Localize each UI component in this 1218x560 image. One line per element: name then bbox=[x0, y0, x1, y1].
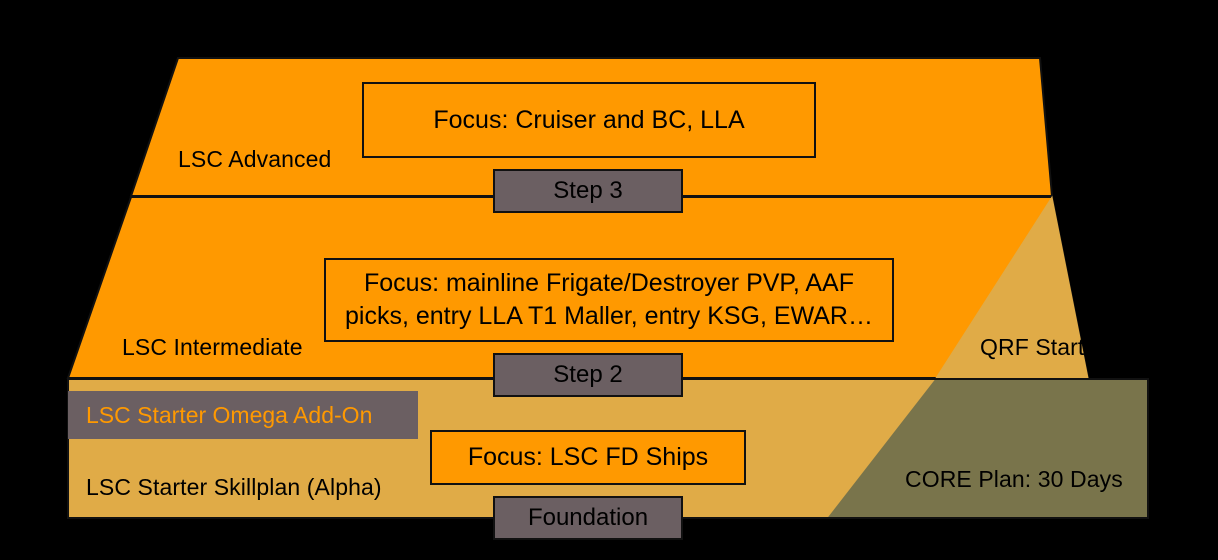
focus-box-intermediate-line1: Focus: mainline Frigate/Destroyer PVP, A… bbox=[364, 267, 854, 300]
tier-label-core-plan: CORE Plan: 30 Days bbox=[905, 466, 1123, 493]
step-box-advanced: Step 3 bbox=[493, 169, 683, 213]
pyramid-diagram: LSC Advanced LSC Intermediate QRF Starte… bbox=[0, 0, 1218, 560]
tier-label-advanced: LSC Advanced bbox=[178, 146, 331, 173]
focus-box-intermediate: Focus: mainline Frigate/Destroyer PVP, A… bbox=[324, 258, 894, 342]
focus-box-intermediate-line2: picks, entry LLA T1 Maller, entry KSG, E… bbox=[345, 300, 873, 333]
tier-label-qrf-starter: QRF Starter bbox=[980, 334, 1105, 361]
focus-box-advanced: Focus: Cruiser and BC, LLA bbox=[362, 82, 816, 158]
tier-label-intermediate: LSC Intermediate bbox=[122, 334, 303, 361]
omega-addon-box: LSC Starter Omega Add-On bbox=[68, 391, 418, 439]
focus-box-starter: Focus: LSC FD Ships bbox=[430, 430, 746, 485]
step-box-foundation: Foundation bbox=[493, 496, 683, 540]
tier-label-starter: LSC Starter Skillplan (Alpha) bbox=[86, 474, 382, 501]
step-box-intermediate: Step 2 bbox=[493, 353, 683, 397]
